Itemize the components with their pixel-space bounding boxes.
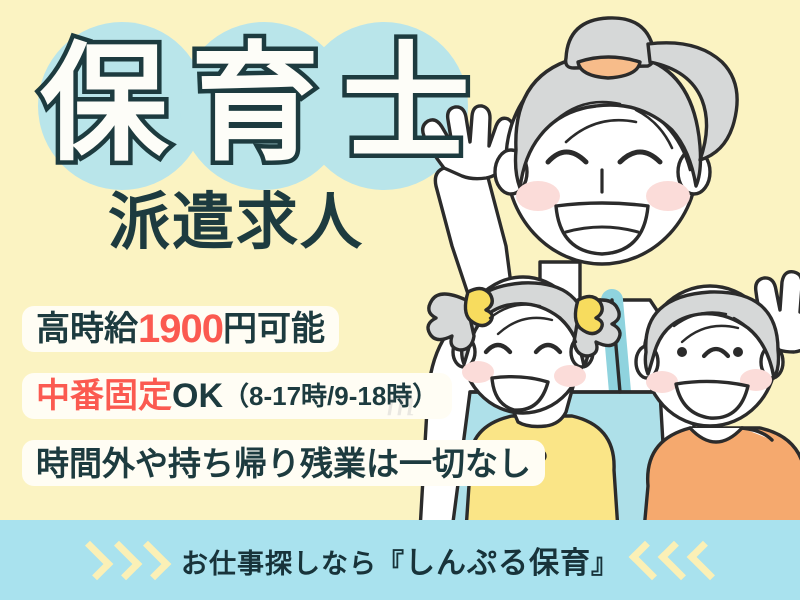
chevrons-left [82,544,163,577]
page-title: 保 育 士 [40,30,470,180]
poster-root: m 保 育 士 派遣求人 高時給 1900 円可能 中番固定 OK （8-17時… [0,0,800,600]
feature-pill-fixed-shift: 中番固定 OK （8-17時/9-18時） [22,373,452,419]
feature-prefix: 中番固定 [36,379,172,413]
feature-suffix: 円可能 [223,312,325,346]
feature-suffix: OK [172,379,223,413]
feature-highlight: 1900 [138,309,223,349]
feature-note: （8-17時/9-18時） [223,383,438,409]
feature-text: 時間外や持ち帰り残業は一切なし [36,447,531,480]
banner-open-bracket: 『 [377,549,405,579]
chevron-left-icon [687,540,727,580]
chevron-right-icon [132,540,172,580]
banner-lead: お仕事探しなら [181,549,377,579]
page-subtitle: 派遣求人 [108,192,364,254]
headline-char-2: 育 [191,41,319,169]
feature-pill-hourly-wage: 高時給 1900 円可能 [22,306,339,352]
headline-char-3: 士 [342,41,470,169]
feature-pill-no-overtime: 時間外や持ち帰り残業は一切なし [22,440,545,486]
chevrons-right [637,544,718,577]
banner-close-bracket: 』 [591,549,619,579]
bottom-banner: お仕事探しなら『しんぷる保育』 [0,520,800,600]
feature-prefix: 高時給 [36,312,138,346]
banner-text: お仕事探しなら『しんぷる保育』 [181,538,619,582]
headline-char-1: 保 [40,41,168,169]
banner-brand: しんぷる保育 [405,547,591,580]
